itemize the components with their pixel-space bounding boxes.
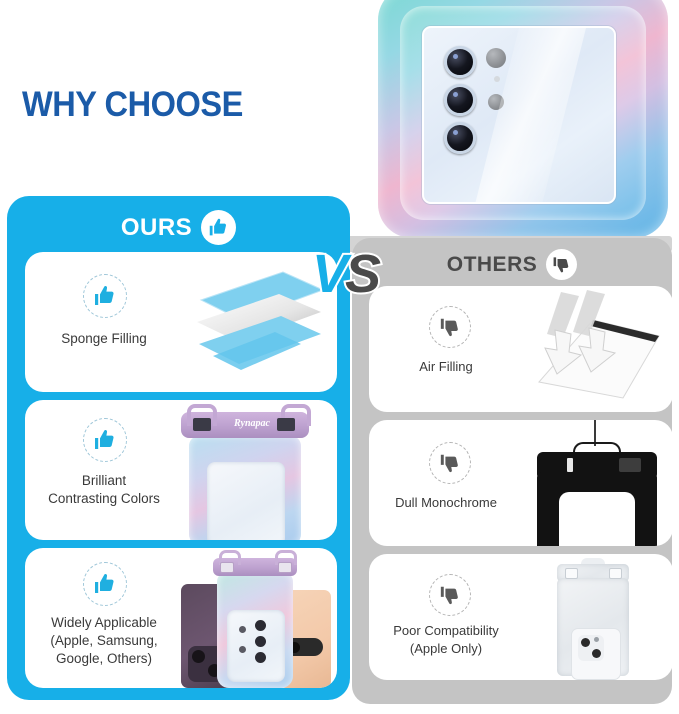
feature-label-ours-2: Brilliant Contrasting Colors — [25, 472, 183, 508]
thumbs-up-icon — [201, 210, 236, 245]
camera-lens-icon — [444, 84, 476, 116]
camera-lens-icon — [444, 122, 476, 154]
feature-label-others-1: Air Filling — [369, 358, 523, 376]
vs-v-letter: V — [312, 244, 345, 304]
camera-flash-icon — [494, 76, 500, 82]
feature-card-others-2: Dull Monochrome — [369, 420, 673, 546]
camera-sensor-icon — [486, 48, 506, 68]
camera-sensor-icon — [488, 94, 504, 110]
thumbs-up-icon — [83, 274, 127, 318]
feature-label-ours-1: Sponge Filling — [25, 330, 183, 348]
feature-label-others-3: Poor Compatibility (Apple Only) — [369, 622, 523, 658]
feature-card-ours-2: Brilliant Contrasting Colors Rynapac — [25, 400, 337, 540]
thumbs-down-icon — [429, 574, 471, 616]
ours-header: OURS — [7, 210, 350, 245]
phone-apple — [571, 628, 621, 680]
feature-card-others-1: Air Filling — [369, 286, 673, 412]
feature-card-ours-3: Widely Applicable (Apple, Samsung, Googl… — [25, 548, 337, 688]
art-gradient-pouch: Rynapac — [173, 400, 323, 540]
vs-s-letter: S — [345, 244, 378, 304]
art-layered-sponge-sheets — [183, 252, 331, 392]
others-title-label: OTHERS — [447, 253, 538, 277]
art-three-phones-with-pouch — [175, 548, 335, 688]
hero-phone-in-pouch — [422, 26, 616, 204]
vs-badge: VS — [312, 246, 396, 304]
art-clear-pouch-with-iphone — [539, 554, 659, 680]
thumbs-up-icon — [83, 562, 127, 606]
feature-label-others-2: Dull Monochrome — [369, 494, 523, 512]
feature-label-ours-3: Widely Applicable (Apple, Samsung, Googl… — [25, 614, 183, 668]
thumbs-down-icon — [429, 442, 471, 484]
others-header: OTHERS — [352, 249, 672, 280]
headline-line-1: WHY CHOOSE — [22, 84, 348, 125]
thumbs-down-icon — [546, 249, 577, 280]
panel-others: OTHERS Air Filling — [352, 238, 672, 704]
infographic-canvas: WHY CHOOSE OUR WATERPROOF PHONE POUCH FL… — [0, 0, 679, 714]
thumbs-up-icon — [83, 418, 127, 462]
pouch-brand-label: Rynapac — [225, 418, 279, 429]
thumbs-down-icon — [429, 306, 471, 348]
panel-ours: OURS Sponge Filling — [7, 196, 350, 700]
art-deflating-air-arrows — [527, 286, 667, 412]
camera-lens-icon — [444, 46, 476, 78]
hero-product-image — [378, 0, 668, 238]
art-black-pouch — [533, 420, 665, 546]
feature-card-others-3: Poor Compatibility (Apple Only) — [369, 554, 673, 680]
feature-card-ours-1: Sponge Filling — [25, 252, 337, 392]
ours-title-label: OURS — [121, 214, 192, 242]
